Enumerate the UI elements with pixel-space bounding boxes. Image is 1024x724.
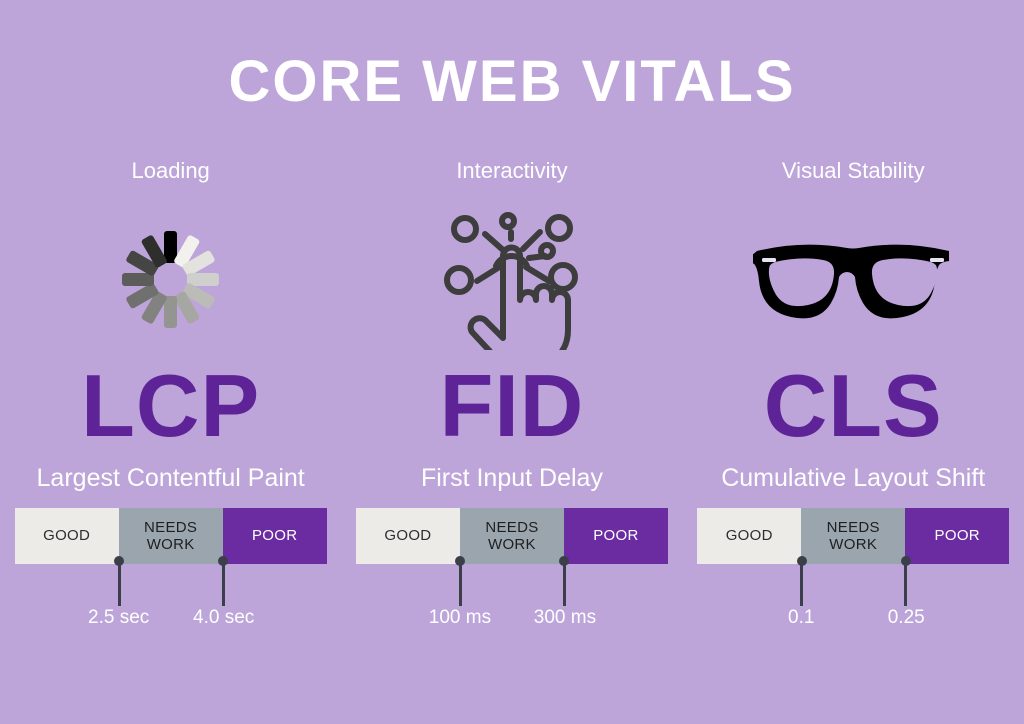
rating-segment-needs-work: NEEDS WORK <box>801 508 905 564</box>
rating-segment-poor: POOR <box>223 508 327 564</box>
loading-spinner-icon <box>61 204 281 354</box>
metric-category-interactivity: Interactivity <box>456 160 567 186</box>
threshold-pin-second <box>904 560 907 606</box>
threshold-label-second: 0.25 <box>846 608 966 627</box>
rating-segment-needs-work: NEEDS WORK <box>119 508 223 564</box>
metric-category-visual-stability: Visual Stability <box>782 160 925 186</box>
metric-fullname-fid: First Input Delay <box>421 466 603 496</box>
rating-segment-good: GOOD <box>356 508 460 564</box>
threshold-label-first: 0.1 <box>741 608 861 627</box>
threshold-pin-first <box>800 560 803 606</box>
rating-segment-good: GOOD <box>15 508 119 564</box>
threshold-pin-first <box>118 560 121 606</box>
metric-acronym-lcp: LCP <box>81 360 260 452</box>
rating-bar: GOOD NEEDS WORK POOR <box>356 508 668 564</box>
core-web-vitals-infographic: CORE WEB VITALS Loading LCP Largest Cont… <box>0 0 1024 724</box>
metric-column-lcp: Loading LCP Largest Contentful Paint GOO… <box>0 160 341 620</box>
rating-bar: GOOD NEEDS WORK POOR <box>697 508 1009 564</box>
eyeglasses-icon <box>743 204 963 354</box>
rating-segment-poor: POOR <box>564 508 668 564</box>
tap-hand-icon <box>402 204 622 354</box>
page-title: CORE WEB VITALS <box>0 52 1024 113</box>
threshold-label-first: 100 ms <box>400 608 520 627</box>
spinner-spoke <box>164 296 177 328</box>
threshold-label-second: 300 ms <box>505 608 625 627</box>
threshold-pin-second <box>222 560 225 606</box>
rating-segment-poor: POOR <box>905 508 1009 564</box>
threshold-label-second: 4.0 sec <box>164 608 284 627</box>
metric-fullname-lcp: Largest Contentful Paint <box>37 466 305 496</box>
metric-column-cls: Visual Stability CLS Cumulative Layout S… <box>683 160 1024 620</box>
threshold-label-first: 2.5 sec <box>59 608 179 627</box>
rating-segment-good: GOOD <box>697 508 801 564</box>
threshold-pin-second <box>563 560 566 606</box>
metric-column-fid: Interactivity <box>341 160 682 620</box>
metrics-columns: Loading LCP Largest Contentful Paint GOO… <box>0 160 1024 620</box>
rating-scale-lcp: GOOD NEEDS WORK POOR 2.5 sec 4.0 sec <box>15 508 327 620</box>
rating-scale-fid: GOOD NEEDS WORK POOR 100 ms 300 ms <box>356 508 668 620</box>
rating-segment-needs-work: NEEDS WORK <box>460 508 564 564</box>
rating-bar: GOOD NEEDS WORK POOR <box>15 508 327 564</box>
metric-acronym-fid: FID <box>440 360 585 452</box>
metric-category-loading: Loading <box>131 160 209 186</box>
metric-acronym-cls: CLS <box>764 360 943 452</box>
threshold-pin-first <box>459 560 462 606</box>
rating-scale-cls: GOOD NEEDS WORK POOR 0.1 0.25 <box>697 508 1009 620</box>
metric-fullname-cls: Cumulative Layout Shift <box>721 466 985 496</box>
